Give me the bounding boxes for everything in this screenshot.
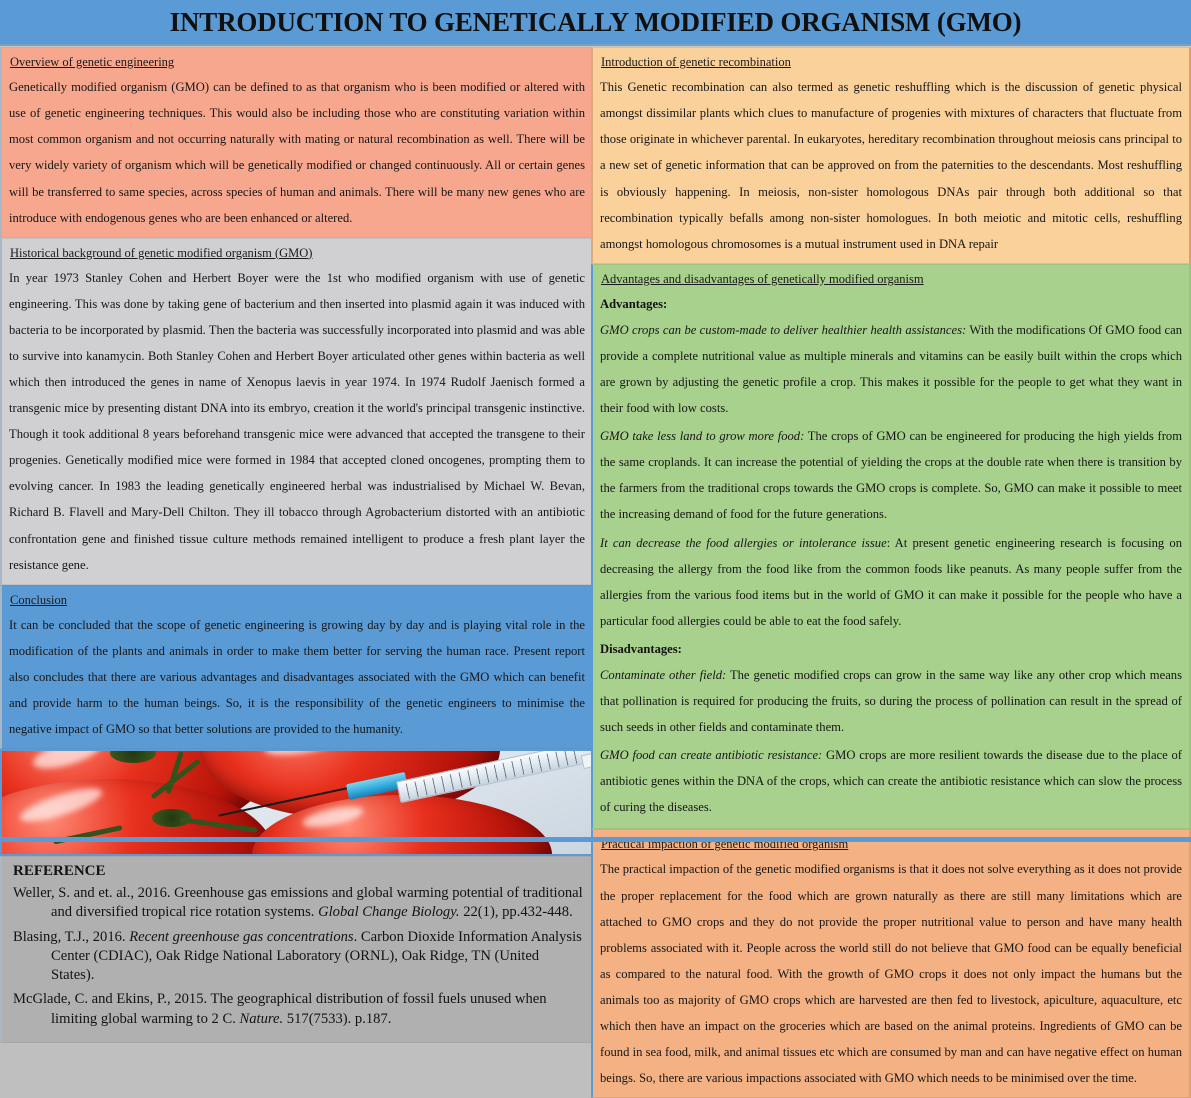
- reference-text-post: 517(7533). p.187.: [283, 1011, 391, 1027]
- reference-section: REFERENCE Weller, S. and et. al., 2016. …: [0, 856, 593, 1043]
- reference-text-pre: Blasing, T.J., 2016.: [13, 929, 129, 945]
- section-historical: Historical background of genetic modifie…: [0, 238, 593, 585]
- section-recombination-heading: Introduction of genetic recombination: [601, 54, 1182, 70]
- right-column: Introduction of genetic recombination Th…: [591, 47, 1191, 1098]
- section-historical-heading: Historical background of genetic modifie…: [10, 245, 585, 261]
- disadvantage-item: Contaminate other field: The genetic mod…: [600, 662, 1182, 740]
- section-overview-body: Genetically modified organism (GMO) can …: [9, 74, 585, 230]
- section-practical-body: The practical impaction of the genetic m…: [600, 856, 1182, 1091]
- poster-root: INTRODUCTION TO GENETICALLY MODIFIED ORG…: [0, 0, 1191, 842]
- advantage-lead: GMO take less land to grow more food:: [600, 429, 804, 443]
- reference-source-italic: Recent greenhouse gas concentrations: [129, 929, 353, 945]
- syringe-plunger: [581, 751, 591, 769]
- disadvantages-label: Disadvantages:: [600, 636, 1182, 662]
- section-overview: Overview of genetic engineering Genetica…: [0, 47, 593, 238]
- section-advantages-disadvantages: Advantages and disadvantages of genetica…: [591, 264, 1191, 830]
- advantages-label-text: Advantages: [600, 297, 663, 311]
- disadvantage-item: GMO food can create antibiotic resistanc…: [600, 742, 1182, 820]
- advantage-lead: It can decrease the food allergies or in…: [600, 536, 887, 550]
- disadvantage-lead: GMO food can create antibiotic resistanc…: [600, 748, 822, 762]
- section-practical-impaction: Practical impaction of genetic modified …: [591, 829, 1191, 1098]
- advantages-label: Advantages:: [600, 291, 1182, 317]
- reference-title: REFERENCE: [13, 863, 583, 880]
- disadvantages-label-text: Disadvantages: [600, 642, 678, 656]
- left-column: Overview of genetic engineering Genetica…: [0, 47, 593, 1043]
- section-conclusion-heading: Conclusion: [10, 592, 585, 608]
- advantage-item: It can decrease the food allergies or in…: [600, 530, 1182, 634]
- section-conclusion-body: It can be concluded that the scope of ge…: [9, 612, 585, 742]
- reference-item: Blasing, T.J., 2016. Recent greenhouse g…: [13, 928, 583, 986]
- reference-item: Weller, S. and et. al., 2016. Greenhouse…: [13, 884, 583, 923]
- poster-header: INTRODUCTION TO GENETICALLY MODIFIED ORG…: [0, 0, 1191, 46]
- section-advantages-heading: Advantages and disadvantages of genetica…: [601, 271, 1182, 287]
- reference-text-post: 22(1), pp.432-448.: [460, 904, 573, 920]
- section-overview-heading: Overview of genetic engineering: [10, 54, 585, 70]
- reference-source-italic: Nature.: [240, 1011, 284, 1027]
- reference-item: McGlade, C. and Ekins, P., 2015. The geo…: [13, 990, 583, 1029]
- page-title: INTRODUCTION TO GENETICALLY MODIFIED ORG…: [170, 7, 1022, 38]
- section-historical-body: In year 1973 Stanley Cohen and Herbert B…: [9, 265, 585, 578]
- advantage-item: GMO take less land to grow more food: Th…: [600, 423, 1182, 527]
- section-recombination: Introduction of genetic recombination Th…: [591, 47, 1191, 264]
- section-recombination-body: This Genetic recombination can also term…: [600, 74, 1182, 256]
- bottom-accent-strip: [0, 837, 1191, 842]
- section-conclusion: Conclusion It can be concluded that the …: [0, 585, 593, 750]
- disadvantage-lead: Contaminate other field:: [600, 668, 726, 682]
- advantage-lead: GMO crops can be custom-made to deliver …: [600, 323, 966, 337]
- reference-source-italic: Global Change Biology.: [318, 904, 459, 920]
- advantage-item: GMO crops can be custom-made to deliver …: [600, 317, 1182, 421]
